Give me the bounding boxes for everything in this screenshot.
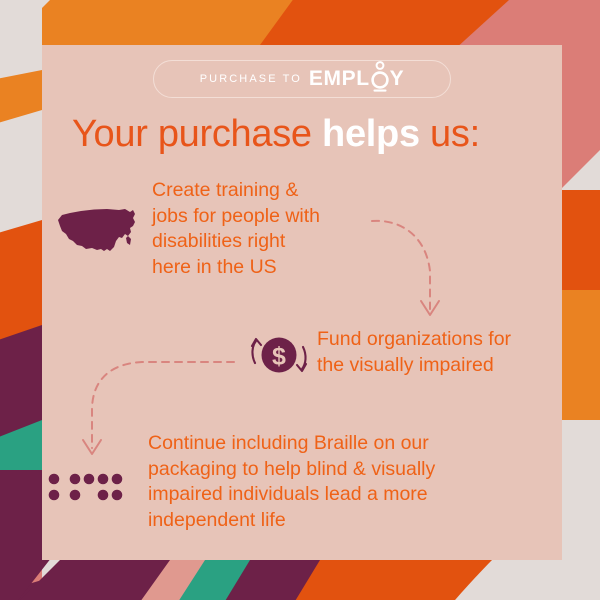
block-text-braille-packaging: Continue including Braille on our packag… — [148, 431, 513, 533]
text-line: jobs for people with — [152, 204, 382, 230]
text-line: disabilities right — [152, 229, 382, 255]
braille-dots-svg — [48, 473, 126, 501]
stripe-orange-red-right — [560, 190, 600, 290]
logo-wordmark: EMPL Y — [309, 67, 404, 91]
logo-text-group: PURCHASE TO EMPL Y — [153, 60, 451, 98]
dashed-curved-arrow-down-icon — [368, 205, 463, 335]
text-line: packaging to help blind & visually — [148, 457, 513, 483]
arrow-1-svg — [368, 205, 463, 330]
person-figure-o-svg — [369, 60, 391, 94]
text-line: Fund organizations for — [317, 327, 552, 353]
text-line: Create training & — [152, 178, 382, 204]
logo-word-part2: Y — [390, 67, 405, 91]
block-text-fund-organizations: Fund organizations for the visually impa… — [317, 327, 552, 378]
block-text-create-training: Create training & jobs for people with d… — [152, 178, 382, 280]
brand-logo: PURCHASE TO EMPL Y — [153, 60, 451, 98]
us-map-svg — [55, 203, 147, 261]
logo-word-part1: EMPL — [309, 67, 370, 91]
person-figure-o-icon — [370, 69, 390, 90]
headline-emphasis: helps — [322, 113, 420, 155]
page-title: Your purchase helps us: — [72, 113, 480, 156]
stripe-orange-right — [560, 290, 600, 420]
headline-part2: us: — [420, 113, 480, 155]
text-line: here in the US — [152, 255, 382, 281]
text-line: independent life — [148, 508, 513, 534]
dollar-coin-icon: $ — [246, 330, 312, 385]
infographic-canvas: PURCHASE TO EMPL Y Your purchase helps u… — [0, 0, 600, 600]
text-line: Continue including Braille on our — [148, 431, 513, 457]
dollar-coin-svg: $ — [246, 330, 312, 380]
text-line: impaired individuals lead a more — [148, 482, 513, 508]
svg-text:$: $ — [272, 343, 286, 371]
us-map-icon — [55, 203, 147, 266]
headline-part1: Your purchase — [72, 113, 322, 155]
text-line: the visually impaired — [317, 353, 552, 379]
logo-prefix-text: PURCHASE TO — [200, 73, 302, 85]
braille-dots-icon — [48, 473, 126, 506]
